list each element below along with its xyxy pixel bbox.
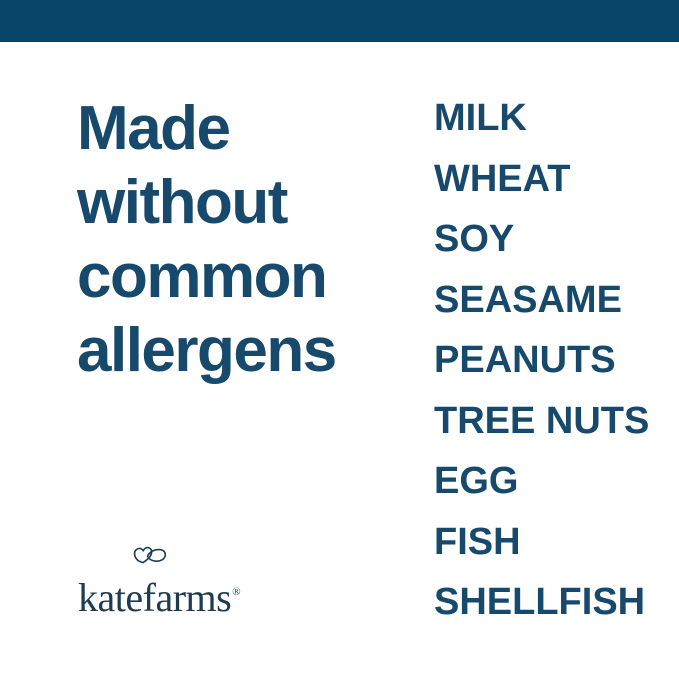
- allergen-list: MILK WHEAT SOY SEASAME PEANUTS TREE NUTS…: [434, 100, 664, 645]
- allergen-info-card: Made without common allergens MILK WHEAT…: [0, 0, 679, 679]
- list-item: MILK: [434, 100, 664, 161]
- logo-wordmark-text: katefarms: [78, 578, 231, 618]
- registered-trademark-symbol: ®: [232, 587, 240, 598]
- list-item: SEASAME: [434, 282, 664, 343]
- list-item: PEANUTS: [434, 342, 664, 403]
- list-item: SHELLFISH: [434, 584, 664, 645]
- list-item: EGG: [434, 463, 664, 524]
- list-item: WHEAT: [434, 161, 664, 222]
- list-item: FISH: [434, 524, 664, 585]
- top-navy-band: [0, 0, 679, 42]
- list-item: TREE NUTS: [434, 403, 664, 464]
- page-title: Made without common allergens: [77, 92, 377, 388]
- brand-logo: katefarms ®: [78, 566, 240, 618]
- heart-leaf-icon: [133, 544, 167, 568]
- list-item: SOY: [434, 221, 664, 282]
